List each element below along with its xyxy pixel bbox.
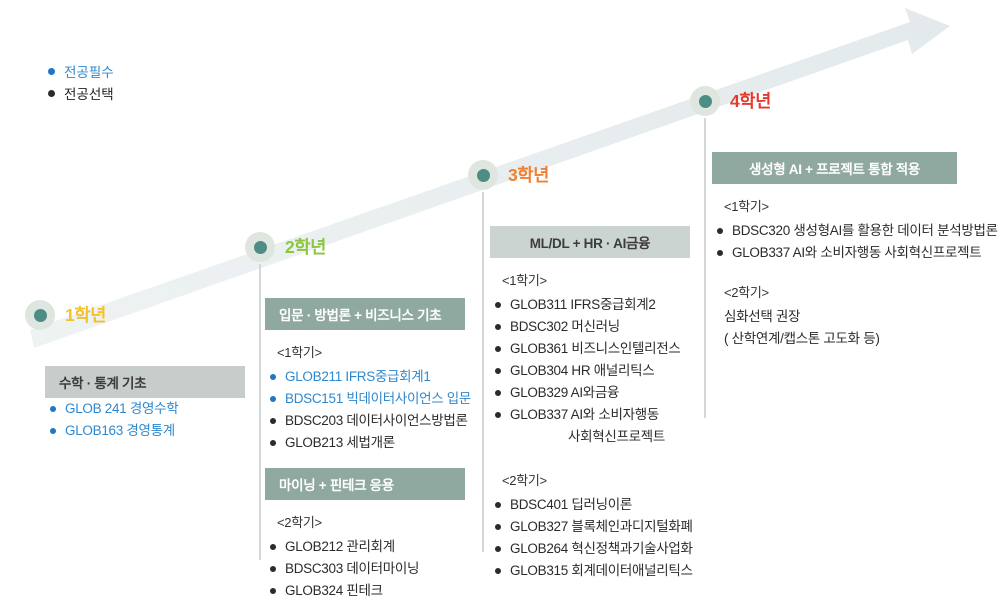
- note-line-1: 심화선택 권장: [724, 306, 957, 328]
- course-item: BDSC302 머신러닝: [490, 316, 690, 338]
- spacer: [265, 454, 465, 468]
- year-label-3: 3학년: [508, 162, 549, 187]
- timeline-node-icon-year4: [690, 86, 720, 116]
- year-body-3: ML/DL + HR · AI금융 <1학기> GLOB311 IFRS중급회계…: [490, 226, 690, 582]
- semester-label-year4-0: <1학기>: [724, 196, 957, 215]
- legend-dot-icon-elective: [48, 90, 55, 97]
- course-item: BDSC401 딥러닝이론: [490, 494, 690, 516]
- legend-item-required: 전공필수: [48, 60, 114, 82]
- course-item: GLOB213 세법개론: [265, 432, 465, 454]
- year-body-1: 수학 · 통계 기초 GLOB 241 경영수학 GLOB163 경영통계: [45, 366, 245, 442]
- course-list-year4-s1: BDSC320 생성형AI를 활용한 데이터 분석방법론 GLOB337 AI와…: [712, 220, 957, 264]
- course-item: BDSC303 데이터마이닝: [265, 558, 465, 580]
- year-body-2: 입문 · 방법론 + 비즈니스 기초 <1학기> GLOB211 IFRS중급회…: [265, 298, 465, 602]
- legend-dot-icon-required: [48, 68, 55, 75]
- course-item: GLOB337 AI와 소비자행동: [490, 404, 690, 426]
- year-label-1: 1학년: [65, 302, 106, 327]
- semester-label-year4-1: <2학기>: [724, 282, 957, 301]
- course-item: GLOB337 AI와 소비자행동 사회혁신프로젝트: [712, 242, 957, 264]
- semester-label-year3-0: <1학기>: [502, 270, 690, 289]
- course-item: GLOB324 핀테크: [265, 580, 465, 602]
- timeline-stem-year3: [482, 192, 484, 552]
- course-item: GLOB304 HR 애널리틱스: [490, 360, 690, 382]
- course-item: BDSC151 빅데이터사이언스 입문: [265, 388, 465, 410]
- timeline-node-icon-year2: [245, 232, 275, 262]
- timeline-node-icon-year3: [468, 160, 498, 190]
- course-item: BDSC320 생성형AI를 활용한 데이터 분석방법론: [712, 220, 957, 242]
- legend-item-elective: 전공선택: [48, 82, 114, 104]
- course-item: GLOB329 AI와금융: [490, 382, 690, 404]
- semester-label-year3-1: <2학기>: [502, 470, 690, 489]
- course-item: GLOB212 관리회계: [265, 536, 465, 558]
- course-item: GLOB361 비즈니스인텔리전스: [490, 338, 690, 360]
- legend-label-elective: 전공선택: [64, 83, 114, 103]
- year-label-4: 4학년: [730, 88, 771, 113]
- course-list-year3-s2: BDSC401 딥러닝이론 GLOB327 블록체인과디지털화폐 GLOB264…: [490, 494, 690, 582]
- course-list-year3-s1: GLOB311 IFRS중급회계2 BDSC302 머신러닝 GLOB361 비…: [490, 294, 690, 448]
- section-header-year4-0: 생성형 AI + 프로젝트 통합 적용: [712, 152, 957, 184]
- course-item: GLOB 241 경영수학: [45, 398, 245, 420]
- course-item: GLOB315 회계데이터애널리틱스: [490, 560, 690, 582]
- semester-label-year2-1: <2학기>: [277, 512, 465, 531]
- course-item-continuation: 사회혁신프로젝트: [490, 426, 690, 448]
- course-item: GLOB311 IFRS중급회계2: [490, 294, 690, 316]
- course-list-year2-s2: GLOB212 관리회계 BDSC303 데이터마이닝 GLOB324 핀테크: [265, 536, 465, 602]
- year-label-2: 2학년: [285, 234, 326, 259]
- section-header-year2-1: 마이닝 + 핀테크 응용: [265, 468, 465, 500]
- course-item: BDSC203 데이터사이언스방법론: [265, 410, 465, 432]
- section-header-year2-0: 입문 · 방법론 + 비즈니스 기초: [265, 298, 465, 330]
- year-body-4: 생성형 AI + 프로젝트 통합 적용 <1학기> BDSC320 생성형AI를…: [712, 152, 957, 350]
- course-item: GLOB163 경영통계: [45, 420, 245, 442]
- timeline-stem-year4: [704, 118, 706, 418]
- course-list-year1-0: GLOB 241 경영수학 GLOB163 경영통계: [45, 398, 245, 442]
- course-item: GLOB264 혁신정책과기술사업화: [490, 538, 690, 560]
- section-header-year3-0: ML/DL + HR · AI금융: [490, 226, 690, 258]
- timeline-stem-year2: [259, 264, 261, 560]
- legend: 전공필수 전공선택: [48, 60, 114, 104]
- semester-label-year2-0: <1학기>: [277, 342, 465, 361]
- timeline-node-icon-year1: [25, 300, 55, 330]
- note-line-2: ( 산학연계/캡스톤 고도화 등): [724, 328, 957, 350]
- course-list-year2-s1: GLOB211 IFRS중급회계1 BDSC151 빅데이터사이언스 입문 BD…: [265, 366, 465, 454]
- section-header-year1-0: 수학 · 통계 기초: [45, 366, 245, 398]
- legend-label-required: 전공필수: [64, 61, 114, 81]
- course-item: GLOB211 IFRS중급회계1: [265, 366, 465, 388]
- course-item: GLOB327 블록체인과디지털화폐: [490, 516, 690, 538]
